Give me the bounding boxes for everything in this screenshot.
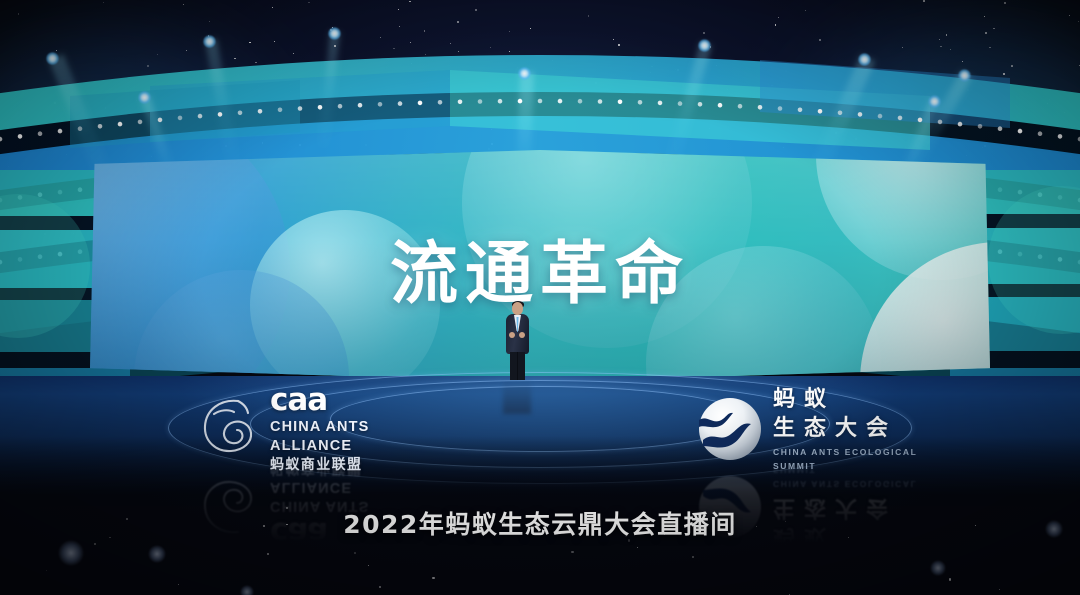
star-point xyxy=(272,7,273,8)
light-dot xyxy=(18,257,23,262)
light-dot xyxy=(598,99,603,104)
star-point xyxy=(409,1,410,2)
light-dot xyxy=(198,114,203,119)
light-dot xyxy=(958,122,963,127)
star-point xyxy=(940,46,942,48)
light-dot xyxy=(258,109,263,114)
ecl-line-english-1: CHINA ANTS ECOLOGICAL xyxy=(773,448,917,457)
light-dot xyxy=(418,101,423,106)
ecl-line-mayi: 蚂蚁 xyxy=(773,388,917,410)
star-point xyxy=(151,156,152,157)
star-point xyxy=(584,77,585,78)
star-point xyxy=(383,108,385,110)
star-point xyxy=(178,584,179,585)
star-point xyxy=(668,103,670,105)
star-point xyxy=(157,54,158,55)
light-dot xyxy=(78,187,83,192)
star-point xyxy=(17,140,18,141)
spotlight-lamp-4 xyxy=(698,39,711,52)
light-dot xyxy=(138,120,143,125)
light-dot xyxy=(618,100,623,105)
star-point xyxy=(85,191,86,192)
star-point xyxy=(727,89,729,91)
star-point xyxy=(630,77,631,78)
star-point xyxy=(44,233,46,235)
star-point xyxy=(677,69,678,70)
star-point xyxy=(1011,65,1013,67)
star-point xyxy=(855,138,857,140)
star-point xyxy=(613,39,614,40)
light-dot xyxy=(38,131,43,136)
light-dot xyxy=(58,129,63,134)
star-point xyxy=(28,214,29,215)
spotlight-lamp-5 xyxy=(858,53,871,66)
star-point xyxy=(91,139,92,140)
light-dot xyxy=(578,99,583,104)
stage-floor xyxy=(0,376,1080,506)
bokeh-light-0 xyxy=(58,540,84,566)
star-point xyxy=(324,63,325,64)
light-dot xyxy=(178,116,183,121)
star-point xyxy=(447,89,449,91)
star-point xyxy=(425,54,426,55)
star-point xyxy=(332,27,333,28)
caa-wordmark: caa xyxy=(270,385,369,416)
light-dot xyxy=(78,249,83,254)
spotlight-lamp-7 xyxy=(138,91,151,104)
star-point xyxy=(66,154,67,155)
star-point xyxy=(299,144,301,146)
star-point xyxy=(267,553,269,555)
spotlight-lamp-1 xyxy=(203,35,216,48)
light-dot xyxy=(318,105,323,110)
star-point xyxy=(290,91,291,92)
star-point xyxy=(650,72,651,73)
star-point xyxy=(289,84,290,85)
star-point xyxy=(79,100,80,101)
star-point xyxy=(946,34,947,35)
star-point xyxy=(475,9,477,11)
star-point xyxy=(254,128,255,129)
star-point xyxy=(56,50,57,51)
star-point xyxy=(709,128,710,129)
light-dot xyxy=(858,112,863,117)
star-point xyxy=(1007,138,1009,140)
star-point xyxy=(588,15,590,17)
star-point xyxy=(380,37,382,39)
ecl-line-shengtai-dahui: 生态大会 xyxy=(773,417,917,439)
star-point xyxy=(234,58,235,59)
light-dot xyxy=(818,109,823,114)
star-point xyxy=(717,85,719,87)
light-dot xyxy=(558,99,563,104)
star-point xyxy=(450,43,451,44)
star-point xyxy=(458,51,459,52)
light-dot xyxy=(798,108,803,113)
star-point xyxy=(939,39,941,41)
star-point xyxy=(487,114,488,115)
star-point xyxy=(710,46,712,48)
star-point xyxy=(186,50,187,51)
star-point xyxy=(1078,21,1079,22)
star-point xyxy=(46,570,47,571)
light-dot xyxy=(1038,131,1043,136)
star-point xyxy=(993,28,994,29)
star-point xyxy=(398,9,399,10)
star-point xyxy=(73,233,74,234)
light-dot xyxy=(38,192,43,197)
bokeh-light-3 xyxy=(930,560,946,576)
star-point xyxy=(907,120,908,121)
star-point xyxy=(410,42,411,43)
caa-ant-linework-icon xyxy=(198,392,260,464)
spotlight-beam-2 xyxy=(317,31,339,151)
light-dot xyxy=(0,137,2,142)
star-point xyxy=(552,60,553,61)
star-point xyxy=(521,75,522,76)
star-point xyxy=(1049,99,1050,100)
star-point xyxy=(771,85,773,87)
star-point xyxy=(966,155,967,156)
logo-china-ants-ecological-summit: 蚂蚁 生态大会 CHINA ANTS ECOLOGICAL SUMMIT xyxy=(697,388,917,470)
star-point xyxy=(716,65,717,66)
star-point xyxy=(342,118,344,120)
speaker-legs xyxy=(510,352,525,380)
ecological-summit-text-block: 蚂蚁 生态大会 CHINA ANTS ECOLOGICAL SUMMIT xyxy=(773,388,917,470)
star-point xyxy=(1004,2,1006,4)
star-point xyxy=(8,166,9,167)
star-point xyxy=(1064,112,1065,113)
star-point xyxy=(457,21,459,23)
light-dot xyxy=(698,102,703,107)
star-point xyxy=(368,565,369,566)
light-dot xyxy=(918,118,923,123)
star-point xyxy=(30,195,31,196)
star-point xyxy=(18,13,20,15)
speaker-hand-right xyxy=(519,332,525,338)
star-point xyxy=(488,148,489,149)
light-dot xyxy=(98,124,103,129)
light-dot xyxy=(1018,190,1023,195)
bokeh-light-6 xyxy=(240,585,254,595)
star-point xyxy=(399,26,401,28)
light-dot xyxy=(738,104,743,109)
star-point xyxy=(873,145,874,146)
star-point xyxy=(1067,131,1069,133)
speaker-reflection xyxy=(503,380,531,414)
star-point xyxy=(330,29,331,30)
logo-china-ants-alliance: caa CHINA ANTS ALLIANCE 蚂蚁商业联盟 xyxy=(198,385,369,471)
speaker-figure xyxy=(503,302,531,380)
light-dot xyxy=(898,116,903,121)
light-dot xyxy=(638,100,643,105)
light-dot xyxy=(158,118,163,123)
light-dot xyxy=(998,249,1003,254)
light-dot xyxy=(278,108,283,113)
light-dot xyxy=(538,99,543,104)
star-point xyxy=(512,102,514,104)
light-dot xyxy=(0,198,2,203)
light-dot xyxy=(1018,252,1023,257)
star-point xyxy=(230,96,231,97)
caa-text-block: caa CHINA ANTS ALLIANCE 蚂蚁商业联盟 xyxy=(270,385,369,471)
light-dot xyxy=(458,100,463,105)
star-point xyxy=(490,47,491,48)
star-point xyxy=(778,110,779,111)
light-dot xyxy=(978,124,983,129)
star-point xyxy=(923,0,925,2)
star-point xyxy=(1017,129,1018,130)
star-point xyxy=(509,31,511,33)
star-point xyxy=(249,42,251,44)
light-dot xyxy=(478,99,483,104)
light-dot xyxy=(678,101,683,106)
light-dot xyxy=(998,187,1003,192)
star-point xyxy=(950,49,952,51)
star-point xyxy=(995,239,996,240)
star-point xyxy=(835,132,837,134)
led-headline: 流通革命 xyxy=(90,218,990,317)
star-point xyxy=(775,24,776,25)
light-dot xyxy=(938,120,943,125)
star-point xyxy=(651,66,652,67)
light-dot xyxy=(498,99,503,104)
star-point xyxy=(315,77,316,78)
light-dot xyxy=(378,102,383,107)
star-point xyxy=(571,551,574,554)
star-point xyxy=(208,35,209,36)
star-point xyxy=(411,63,412,64)
spotlight-lamp-3 xyxy=(518,67,531,80)
star-point xyxy=(618,44,620,46)
bokeh-light-2 xyxy=(148,545,166,563)
star-point xyxy=(530,28,531,29)
light-dot xyxy=(38,254,43,259)
star-point xyxy=(984,16,985,17)
light-dot xyxy=(358,103,363,108)
light-dot xyxy=(338,104,343,109)
light-dot xyxy=(1058,195,1063,200)
star-point xyxy=(334,45,336,47)
star-point xyxy=(1069,15,1070,16)
light-dot xyxy=(0,260,2,265)
star-point xyxy=(225,145,227,147)
star-point xyxy=(262,142,263,143)
star-point xyxy=(999,589,1000,590)
star-point xyxy=(424,30,425,31)
light-dot xyxy=(18,195,23,200)
star-point xyxy=(517,67,518,68)
star-point xyxy=(432,577,434,579)
star-point xyxy=(819,39,820,40)
star-point xyxy=(637,547,638,548)
star-point xyxy=(585,96,586,97)
star-point xyxy=(989,47,990,48)
spotlight-beam-1 xyxy=(205,39,239,169)
star-point xyxy=(209,21,210,22)
light-dot xyxy=(58,252,63,257)
star-point xyxy=(183,4,184,5)
spotlight-lamp-8 xyxy=(928,95,941,108)
light-dot xyxy=(998,126,1003,131)
star-point xyxy=(692,556,694,558)
star-point xyxy=(985,32,987,34)
star-point xyxy=(15,193,16,194)
star-point xyxy=(778,17,779,18)
star-point xyxy=(595,82,597,84)
light-dot xyxy=(758,105,763,110)
star-point xyxy=(773,100,775,102)
star-point xyxy=(34,182,36,184)
globe-ant-sphere-icon xyxy=(697,396,763,462)
caa-line-chinese: 蚂蚁商业联盟 xyxy=(270,457,369,471)
ecl-line-english-2: SUMMIT xyxy=(773,462,917,471)
light-dot xyxy=(218,112,223,117)
light-dot xyxy=(118,122,123,127)
star-point xyxy=(274,41,275,42)
star-point xyxy=(675,69,676,70)
light-dot xyxy=(78,126,83,131)
speaker-head xyxy=(512,302,523,315)
star-point xyxy=(783,147,784,148)
light-dot xyxy=(718,103,723,108)
star-point xyxy=(393,48,395,50)
light-dot xyxy=(298,106,303,111)
broadcast-caption: 2022年蚂蚁生态云鼎大会直播间 xyxy=(0,505,1080,541)
floor-ring-inner xyxy=(330,386,750,452)
main-led-screen: 流通革命 xyxy=(90,150,990,382)
star-point xyxy=(1003,73,1005,75)
light-dot xyxy=(1058,257,1063,262)
light-dot xyxy=(878,114,883,119)
light-dot xyxy=(238,111,243,116)
star-point xyxy=(967,89,969,91)
star-point xyxy=(54,102,56,104)
star-point xyxy=(962,61,963,62)
star-point xyxy=(103,2,104,3)
star-point xyxy=(365,144,367,146)
star-point xyxy=(572,116,573,117)
star-point xyxy=(1074,126,1075,127)
light-dot xyxy=(518,99,523,104)
star-point xyxy=(982,147,984,149)
star-point xyxy=(491,129,492,130)
star-point xyxy=(347,99,348,100)
speaker-hand-left xyxy=(509,332,515,338)
star-point xyxy=(1047,103,1048,104)
light-dot xyxy=(658,101,663,106)
star-point xyxy=(984,145,986,147)
star-point xyxy=(552,103,554,105)
light-dot xyxy=(398,101,403,106)
light-dot xyxy=(1038,254,1043,259)
star-point xyxy=(805,10,806,11)
star-point xyxy=(136,100,137,101)
star-point xyxy=(105,107,106,108)
star-point xyxy=(785,70,787,72)
light-dot xyxy=(778,106,783,111)
star-point xyxy=(757,102,758,103)
light-dot xyxy=(438,100,443,105)
star-point xyxy=(255,62,256,63)
caa-line-alliance: ALLIANCE xyxy=(270,439,369,454)
stage-scene: 流通革命 caa CHINA ANTS xyxy=(0,0,1080,595)
star-point xyxy=(808,77,809,78)
star-point xyxy=(258,85,259,86)
star-point xyxy=(378,121,379,122)
star-point xyxy=(207,136,208,137)
light-dot xyxy=(1038,192,1043,197)
light-dot xyxy=(1018,129,1023,134)
star-point xyxy=(436,113,437,114)
light-dot xyxy=(838,111,843,116)
star-point xyxy=(350,87,351,88)
star-point xyxy=(1027,204,1028,205)
spotlight-lamp-2 xyxy=(328,27,341,40)
spotlight-lamp-0 xyxy=(46,52,59,65)
star-point xyxy=(949,578,952,581)
star-point xyxy=(448,78,449,79)
star-point xyxy=(77,186,78,187)
caa-line-china-ants: CHINA ANTS xyxy=(270,420,369,435)
star-point xyxy=(60,174,62,176)
star-point xyxy=(509,51,510,52)
star-point xyxy=(379,586,381,588)
star-point xyxy=(491,143,492,144)
star-point xyxy=(308,2,310,4)
light-dot xyxy=(58,190,63,195)
star-point xyxy=(293,53,294,54)
star-point xyxy=(864,96,865,97)
star-point xyxy=(147,65,149,67)
star-point xyxy=(1006,129,1007,130)
spotlight-lamp-6 xyxy=(958,69,971,82)
star-point xyxy=(354,552,356,554)
star-point xyxy=(94,543,96,545)
light-dot xyxy=(18,134,23,139)
light-dot xyxy=(1058,134,1063,139)
star-point xyxy=(902,47,903,48)
star-point xyxy=(703,32,705,34)
